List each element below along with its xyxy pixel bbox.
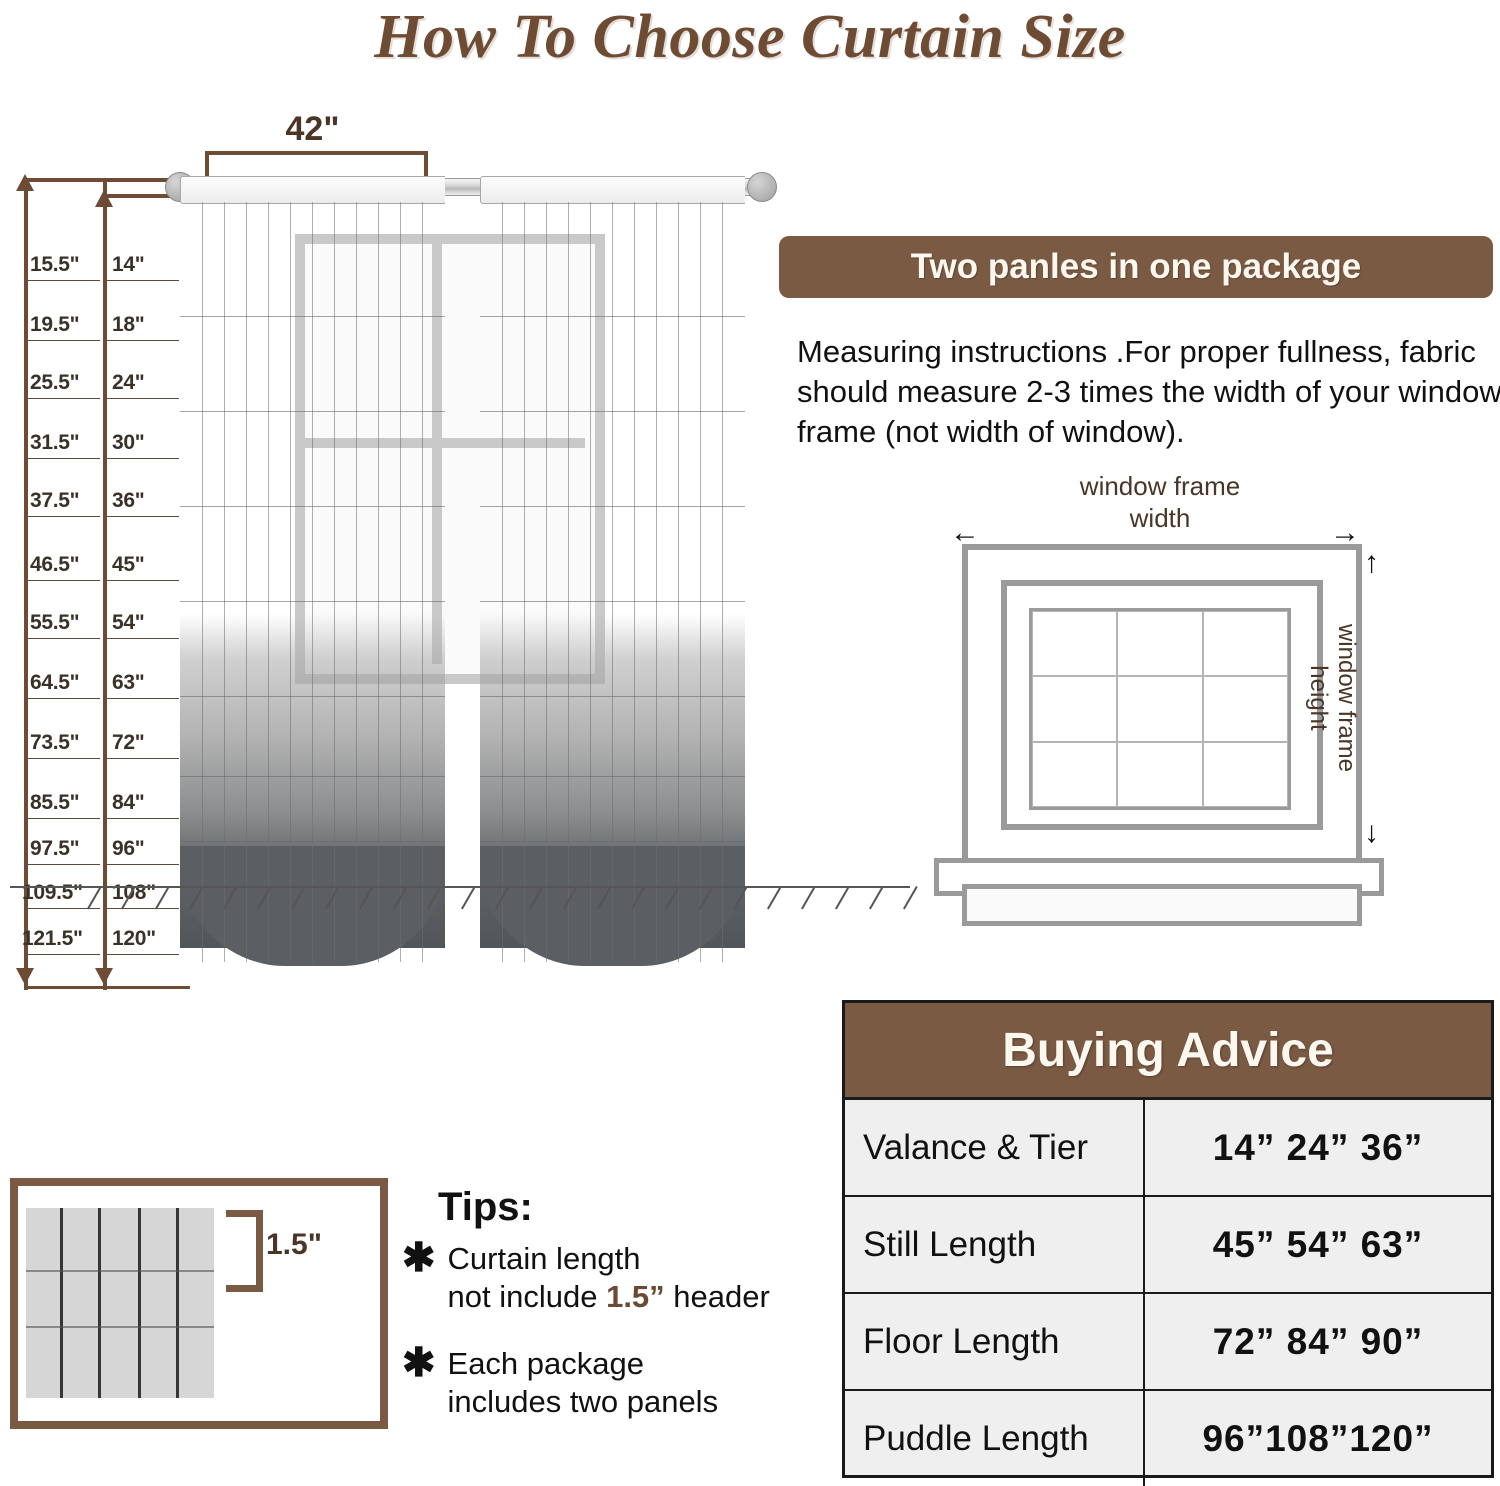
ruler-length-label-1: 18" — [112, 313, 144, 337]
tip-1-highlight: 1.5” — [606, 1279, 665, 1314]
swatch-fold — [60, 1208, 63, 1398]
tip-item: ✱ Curtain length not include 1.5” header — [402, 1240, 842, 1316]
ruler-length-label-3: 30" — [112, 431, 144, 455]
tip-text-2: Each package includes two panels — [448, 1345, 719, 1421]
ruler-outer-rail — [24, 178, 28, 990]
measuring-instructions: Measuring instructions .For proper fulln… — [797, 332, 1500, 452]
ruler-tick-total — [28, 758, 100, 759]
curtain-wave — [180, 601, 445, 602]
curtain-wave — [480, 506, 745, 507]
floor-hatch — [903, 886, 918, 910]
tip-1-line-2-post: header — [665, 1279, 770, 1314]
curtain-header-swatch — [26, 1208, 214, 1398]
window-frame-height-label: window frame height — [1304, 598, 1360, 798]
floor-hatch — [869, 886, 884, 910]
swatch-gather-line — [26, 1270, 214, 1272]
ruler-tick-total — [28, 954, 100, 955]
rod-finial-right — [747, 172, 777, 202]
floor-hatch — [801, 886, 816, 910]
ruler-total-label-11: 109.5" — [22, 881, 83, 905]
tips-heading: Tips: — [438, 1185, 533, 1230]
asterisk-icon: ✱ — [402, 1345, 436, 1381]
window-frame-height-dimension: ↑ window frame height ↓ — [1352, 548, 1408, 848]
curtain-illustration — [160, 168, 780, 998]
advice-sizes-1: 45” 54” 63” — [1145, 1197, 1491, 1292]
curtain-wave — [180, 776, 445, 777]
tip-1-line-2-pre: not include — [448, 1279, 607, 1314]
tip-2-line-2: includes two panels — [448, 1384, 719, 1419]
tip-item: ✱ Each package includes two panels — [402, 1345, 842, 1421]
curtain-wave — [180, 696, 445, 697]
curtain-wave — [480, 316, 745, 317]
ruler-length-label-6: 54" — [112, 611, 144, 635]
ruler-total-label-12: 121.5" — [22, 927, 83, 951]
ruler-tick-total — [28, 340, 100, 341]
swatch-fold — [138, 1208, 141, 1398]
window-frame-width-label: window frame width — [940, 470, 1380, 534]
ruler-tick-total — [28, 638, 100, 639]
swatch-gather-line — [26, 1326, 214, 1328]
curtain-wave — [180, 316, 445, 317]
ruler-total-label-2: 25.5" — [30, 371, 79, 395]
window-frame-diagram: window frame width ← → ↑ window frame he… — [920, 470, 1420, 890]
ruler-total-label-4: 37.5" — [30, 489, 79, 513]
header-height-label: 1.5" — [266, 1228, 322, 1262]
ruler-length-label-10: 96" — [112, 837, 144, 861]
buying-advice-header: Buying Advice — [845, 1003, 1491, 1100]
ruler-inner-rail — [103, 178, 107, 990]
curtain-wave — [180, 841, 445, 842]
advice-row: Still Length45” 54” 63” — [845, 1197, 1491, 1294]
ruler-total-label-0: 15.5" — [30, 253, 79, 277]
ruler-length-label-5: 45" — [112, 553, 144, 577]
arrow-up-outer-icon — [16, 174, 34, 191]
ruler-total-label-8: 73.5" — [30, 731, 79, 755]
advice-sizes-2: 72” 84” 90” — [1145, 1294, 1491, 1389]
ruler-tick-total — [28, 580, 100, 581]
page-title: How To Choose Curtain Size — [0, 2, 1500, 73]
ruler-tick-total — [28, 280, 100, 281]
advice-row: Floor Length72” 84” 90” — [845, 1294, 1491, 1391]
ruler-length-label-8: 72" — [112, 731, 144, 755]
ruler-tick-total — [28, 698, 100, 699]
curtain-wave — [180, 411, 445, 412]
curtain-wave — [480, 601, 745, 602]
advice-label-2: Floor Length — [845, 1294, 1145, 1389]
ruler-length-label-0: 14" — [112, 253, 144, 277]
ruler-total-label-5: 46.5" — [30, 553, 79, 577]
window-frame-width-line1: window frame — [1080, 471, 1240, 501]
swatch-fold — [176, 1208, 179, 1398]
tip-2-line-1: Each package — [448, 1346, 644, 1381]
advice-row: Puddle Length96”108”120” — [845, 1391, 1491, 1486]
advice-row: Valance & Tier14” 24” 36” — [845, 1100, 1491, 1197]
curtain-header-detail-box: 1.5" — [10, 1178, 388, 1429]
ruler-total-label-1: 19.5" — [30, 313, 79, 337]
curtain-wave — [480, 776, 745, 777]
advice-label-3: Puddle Length — [845, 1391, 1145, 1486]
advice-sizes-3: 96”108”120” — [1145, 1391, 1491, 1486]
advice-label-0: Valance & Tier — [845, 1100, 1145, 1195]
floor-hatch — [461, 886, 476, 910]
floor-line — [10, 886, 910, 888]
ruler-length-label-11: 108" — [112, 881, 156, 905]
ruler-length-label-9: 84" — [112, 791, 144, 815]
arrow-up-inner-icon — [95, 190, 113, 207]
curtain-wave — [180, 506, 445, 507]
arrow-down-outer-icon — [16, 968, 34, 985]
curtain-wave — [480, 411, 745, 412]
ruler-tick-total — [28, 864, 100, 865]
window-frame-width-line2: width — [1130, 503, 1191, 533]
asterisk-icon: ✱ — [402, 1240, 436, 1276]
swatch-fold — [98, 1208, 101, 1398]
advice-sizes-0: 14” 24” 36” — [1145, 1100, 1491, 1195]
ruler-total-label-6: 55.5" — [30, 611, 79, 635]
arrow-down-icon: ↓ — [1364, 818, 1379, 848]
buying-advice-title: Buying Advice — [1002, 1023, 1334, 1078]
ruler-tick-total — [28, 516, 100, 517]
curtain-panel-left — [180, 176, 445, 966]
ruler-tick-total — [28, 458, 100, 459]
advice-label-1: Still Length — [845, 1197, 1145, 1292]
ruler-tick-total — [28, 818, 100, 819]
window-sill-lower — [962, 884, 1362, 926]
header-height-bracket — [226, 1210, 263, 1292]
arrow-down-inner-icon — [95, 968, 113, 985]
curtain-wave — [480, 696, 745, 697]
buying-advice-table: Buying Advice Valance & Tier14” 24” 36”S… — [842, 1000, 1494, 1478]
floor-hatch — [767, 886, 782, 910]
curtain-width-label: 42" — [205, 110, 420, 149]
ruler-length-label-12: 120" — [112, 927, 156, 951]
ruler-length-label-7: 63" — [112, 671, 144, 695]
tip-1-line-1: Curtain length — [448, 1241, 641, 1276]
ruler-length-label-4: 36" — [112, 489, 144, 513]
tip-text-1: Curtain length not include 1.5” header — [448, 1240, 770, 1316]
banner-text: Two panles in one package — [911, 247, 1362, 287]
arrow-up-icon: ↑ — [1364, 548, 1379, 578]
ruler-total-label-3: 31.5" — [30, 431, 79, 455]
ruler-total-label-7: 64.5" — [30, 671, 79, 695]
curtain-wave — [480, 841, 745, 842]
ruler-total-label-9: 85.5" — [30, 791, 79, 815]
window-glass-grid — [1029, 608, 1291, 810]
ruler-total-label-10: 97.5" — [30, 837, 79, 861]
ruler-tick-total — [28, 398, 100, 399]
ruler-length-label-2: 24" — [112, 371, 144, 395]
two-panels-banner: Two panles in one package — [779, 236, 1493, 298]
floor-hatch — [835, 886, 850, 910]
window-frame-outer — [962, 544, 1362, 868]
curtain-panel-right — [480, 176, 745, 966]
window-frame-inner — [1001, 580, 1323, 830]
